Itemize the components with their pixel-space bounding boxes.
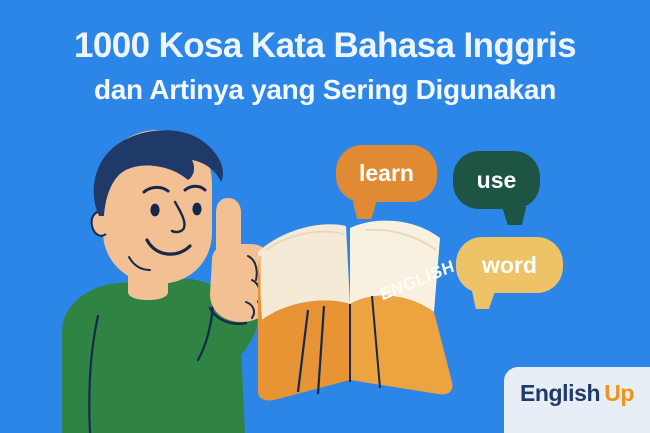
speech-bubble-tail-icon: [498, 207, 526, 225]
title-line-2: dan Artinya yang Sering Digunakan: [0, 73, 650, 107]
speech-bubble-learn-label: learn: [359, 160, 414, 187]
speech-bubble-use: use: [453, 151, 540, 209]
speech-bubble-tail-icon: [353, 201, 381, 219]
speech-bubble-word-label: word: [482, 252, 537, 279]
speech-bubble-tail-icon: [472, 291, 499, 309]
brand-name-accent: Up: [604, 380, 634, 406]
speech-bubble-use-label: use: [477, 167, 517, 194]
speech-bubble-word: word: [456, 237, 563, 293]
brand-name-primary: English: [520, 380, 600, 406]
poster-canvas: 1000 Kosa Kata Bahasa Inggris dan Artiny…: [0, 0, 650, 433]
person-head: [92, 130, 223, 284]
poster-title: 1000 Kosa Kata Bahasa Inggris dan Artiny…: [0, 26, 650, 107]
brand-logo-text: EnglishUp: [520, 380, 634, 407]
speech-bubble-learn: learn: [336, 145, 437, 202]
title-line-1: 1000 Kosa Kata Bahasa Inggris: [0, 26, 650, 66]
brand-logo: EnglishUp: [504, 367, 650, 433]
